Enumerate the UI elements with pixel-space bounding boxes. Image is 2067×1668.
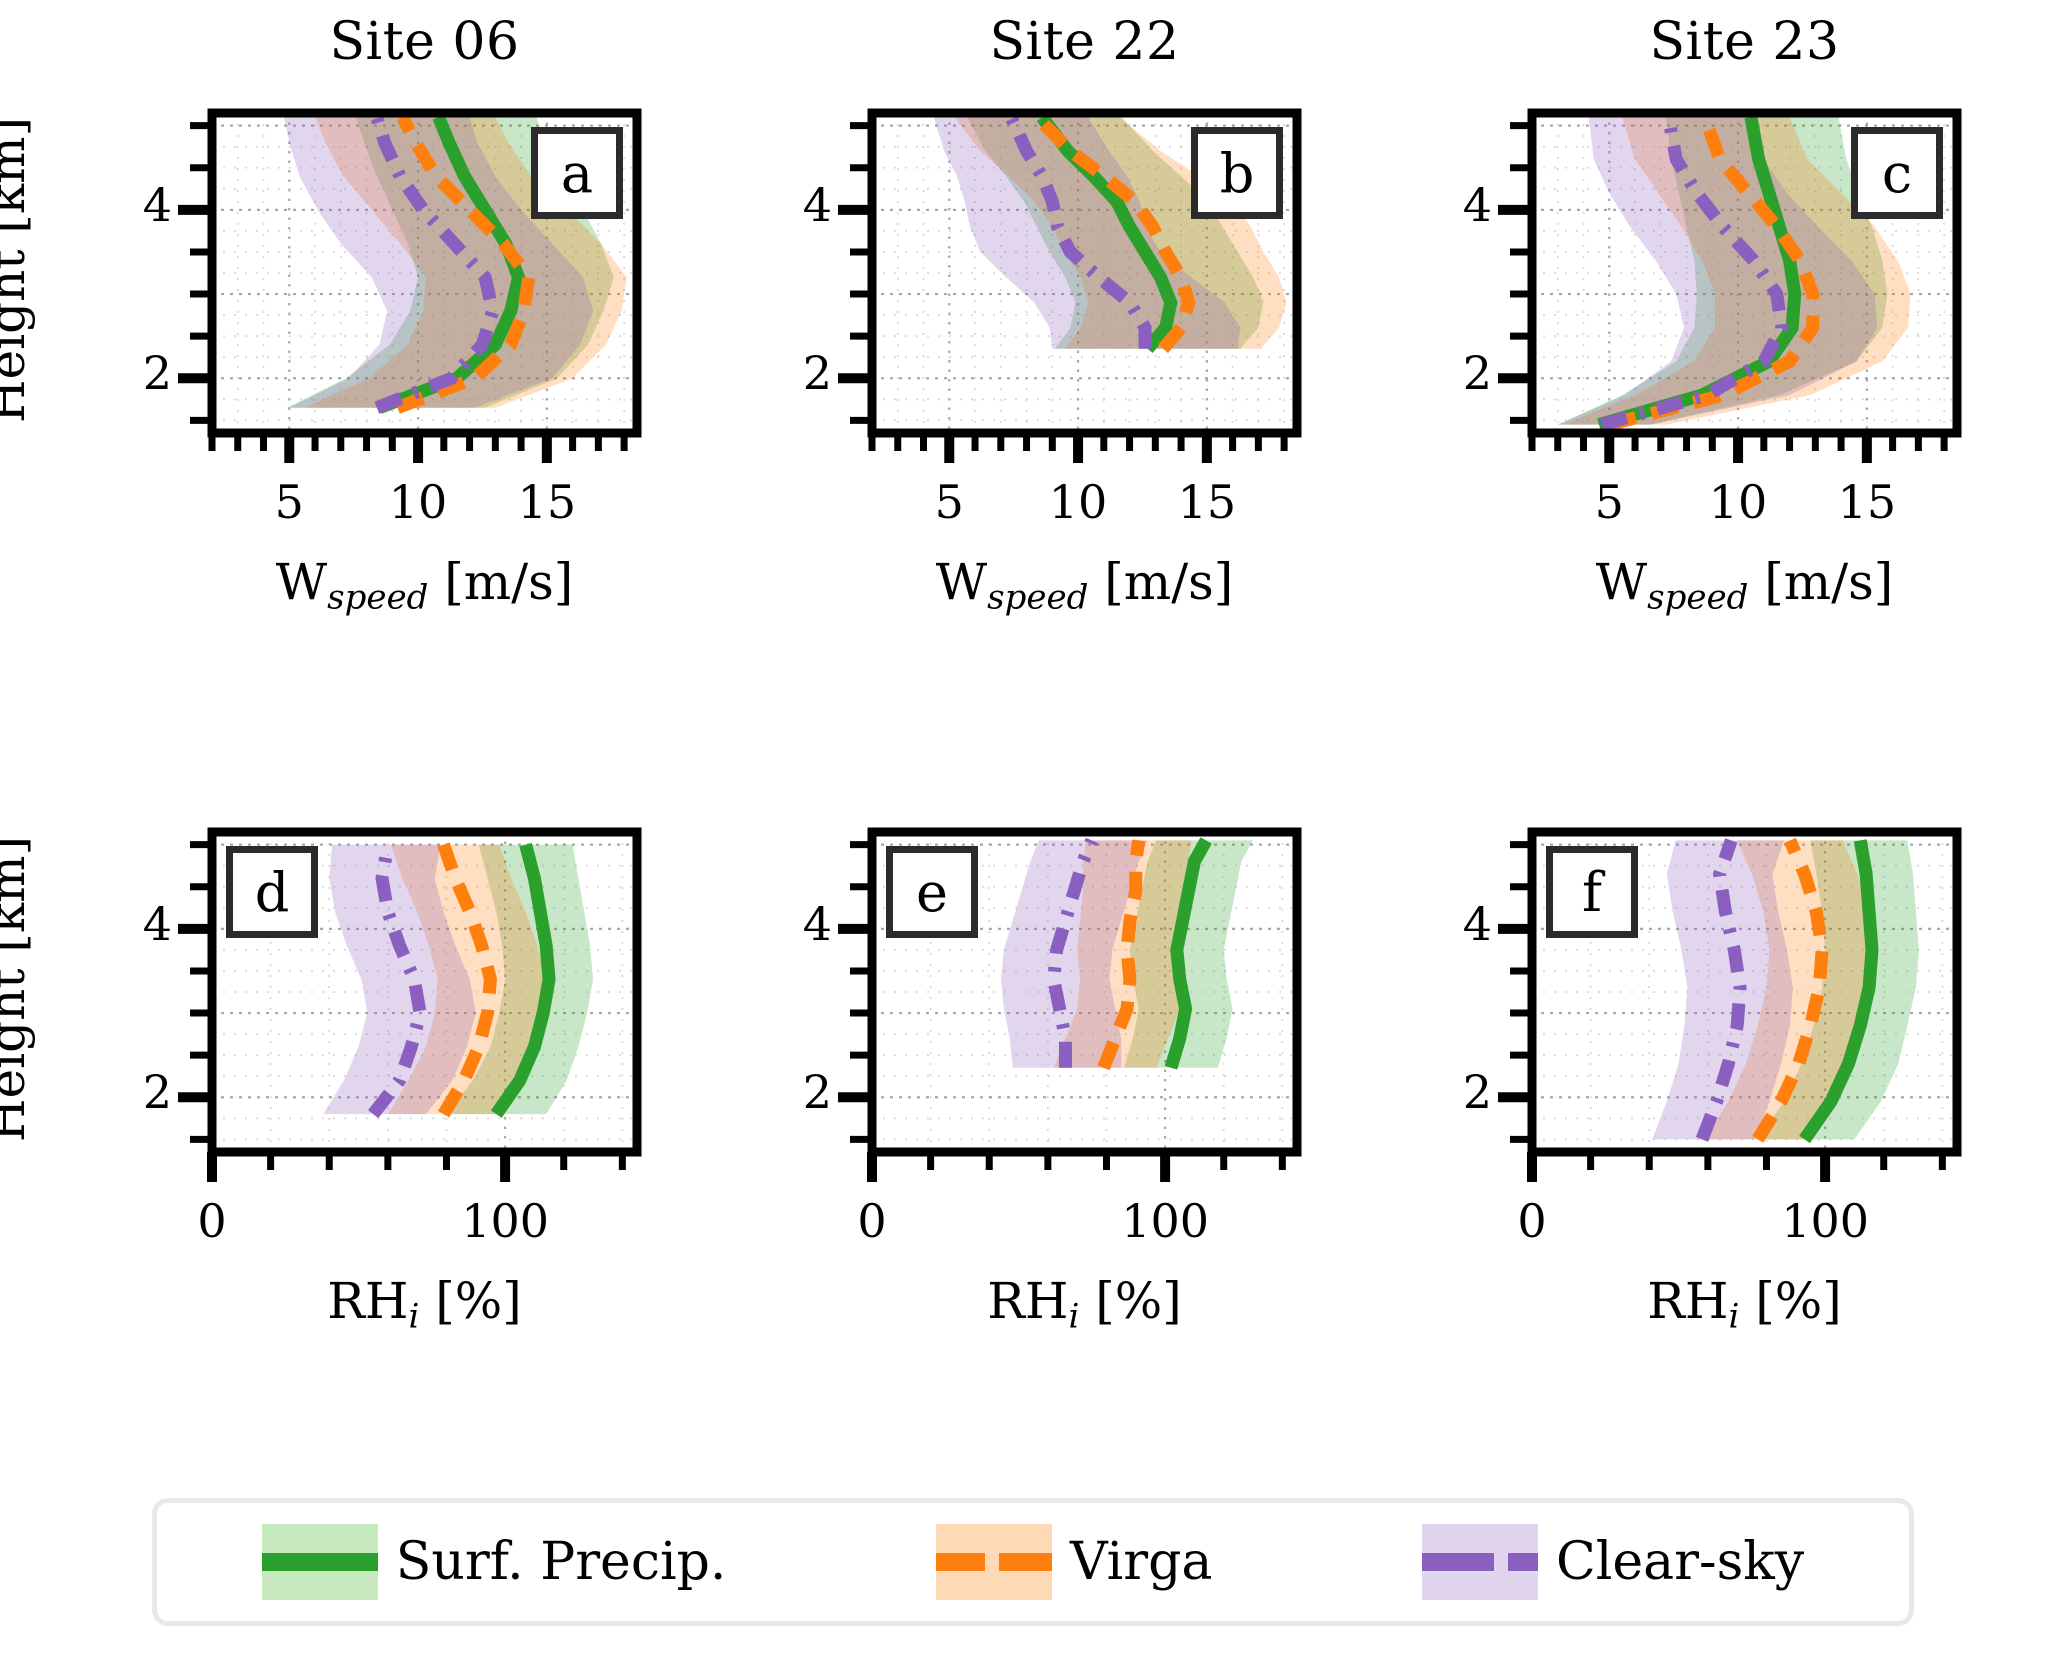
band-e-1 (1054, 840, 1192, 1067)
xaxis-label-main: RH (987, 1272, 1068, 1330)
xaxis-label-unit: [m/s] (1748, 553, 1893, 611)
ytick-label: 4 (742, 178, 832, 232)
xaxis-label-main: W (276, 553, 327, 611)
legend-line-2 (1422, 1553, 1538, 1571)
chart-panel-b (0, 0, 2067, 1668)
band-e-2 (1001, 840, 1148, 1067)
ytick-label: 4 (742, 897, 832, 951)
xaxis-label-unit: [m/s] (428, 553, 573, 611)
band-c-2 (1558, 117, 1877, 424)
ytick-label: 4 (82, 178, 172, 232)
xtick-label: 5 (1549, 475, 1669, 529)
panel-title-0: Site 06 (152, 12, 697, 72)
series-line-d-0 (496, 845, 549, 1114)
chart-svg-e (0, 0, 2067, 1668)
chart-svg-d (0, 0, 2067, 1668)
xtick-label: 0 (812, 1194, 932, 1248)
legend-label-2: Clear-sky (1556, 1532, 1804, 1592)
xaxis-label-sub: speed (1647, 578, 1748, 618)
series-line-f-1 (1758, 840, 1822, 1139)
xaxis-label-main: RH (1647, 1272, 1728, 1330)
xaxis-label-main: RH (327, 1272, 408, 1330)
series-line-c-1 (1609, 117, 1812, 424)
ytick-label: 2 (742, 1065, 832, 1119)
series-line-e-0 (1171, 840, 1206, 1067)
series-line-f-2 (1702, 840, 1740, 1139)
chart-svg-c (0, 0, 2067, 1668)
band-d-1 (388, 845, 546, 1114)
panel-title-2: Site 23 (1472, 12, 2017, 72)
xtick-label: 100 (445, 1194, 565, 1248)
xtick-label: 5 (229, 475, 349, 529)
panel-letter-c: c (1851, 127, 1943, 219)
yaxis-label-d: Height [km] (0, 774, 36, 1204)
legend-label-1: Virga (1070, 1532, 1212, 1592)
xaxis-label-sub: i (1068, 1297, 1079, 1337)
xtick-label: 15 (487, 475, 607, 529)
chart-svg-b (0, 0, 2067, 1668)
xaxis-label-sub: speed (327, 578, 428, 618)
ytick-label: 4 (1402, 178, 1492, 232)
chart-svg-f (0, 0, 2067, 1668)
legend-entry-1[interactable]: Virga (936, 1524, 1212, 1600)
legend-swatch-2 (1422, 1524, 1538, 1600)
band-f-0 (1758, 840, 1919, 1139)
series-line-a-0 (379, 117, 518, 408)
xaxis-label-d: RHi [%] (122, 1272, 727, 1337)
xtick-label: 100 (1765, 1194, 1885, 1248)
xaxis-label-sub: i (408, 1297, 419, 1337)
chart-panel-a (0, 0, 2067, 1668)
legend-label-0: Surf. Precip. (396, 1532, 727, 1592)
panel-letter-a: a (531, 127, 623, 219)
xaxis-label-sub: i (1728, 1297, 1739, 1337)
legend-entry-0[interactable]: Surf. Precip. (262, 1524, 727, 1600)
xaxis-label-unit: [%] (1079, 1272, 1181, 1330)
chart-panel-c (0, 0, 2067, 1668)
series-line-b-2 (1011, 117, 1145, 349)
legend-swatch-0 (262, 1524, 378, 1600)
ytick-label: 2 (1402, 346, 1492, 400)
ytick-label: 2 (742, 346, 832, 400)
chart-panel-f (0, 0, 2067, 1668)
panel-letter-d: d (226, 846, 318, 938)
panel-title-1: Site 22 (812, 12, 1357, 72)
series-line-b-0 (1042, 117, 1171, 349)
xaxis-label-unit: [%] (419, 1272, 521, 1330)
legend-line-0 (262, 1553, 378, 1571)
xaxis-label-f: RHi [%] (1442, 1272, 2047, 1337)
series-line-f-0 (1805, 840, 1872, 1139)
series-line-e-2 (1054, 840, 1092, 1067)
series-line-c-2 (1602, 117, 1782, 424)
series-line-d-1 (444, 845, 491, 1114)
xtick-label: 5 (889, 475, 1009, 529)
ytick-label: 2 (1402, 1065, 1492, 1119)
xtick-label: 15 (1147, 475, 1267, 529)
xaxis-label-e: RHi [%] (782, 1272, 1387, 1337)
yaxis-label-a: Height [km] (0, 55, 36, 485)
legend-line-1 (936, 1553, 1052, 1571)
series-line-d-2 (373, 845, 420, 1114)
chart-svg-a (0, 0, 2067, 1668)
chart-panel-e (0, 0, 2067, 1668)
panel-letter-f: f (1546, 846, 1638, 938)
series-line-c-0 (1599, 117, 1795, 424)
band-c-0 (1558, 117, 1888, 424)
legend-entry-2[interactable]: Clear-sky (1422, 1524, 1804, 1600)
series-line-b-1 (1037, 117, 1189, 349)
panel-letter-b: b (1191, 127, 1283, 219)
legend-line-segment (999, 1553, 1052, 1571)
series-line-a-2 (377, 117, 493, 408)
xtick-label: 10 (358, 475, 478, 529)
xaxis-label-unit: [%] (1739, 1272, 1841, 1330)
xtick-label: 10 (1678, 475, 1798, 529)
xaxis-label-unit: [m/s] (1088, 553, 1233, 611)
xaxis-label-c: Wspeed [m/s] (1442, 553, 2047, 618)
ytick-label: 2 (82, 1065, 172, 1119)
chart-legend: Surf. Precip.VirgaClear-sky (152, 1498, 1914, 1626)
band-e-0 (1124, 840, 1253, 1067)
legend-swatch-1 (936, 1524, 1052, 1600)
xaxis-label-sub: speed (987, 578, 1088, 618)
xtick-label: 0 (152, 1194, 272, 1248)
band-d-2 (323, 845, 475, 1114)
series-line-a-1 (397, 117, 528, 408)
legend-line-segment (1508, 1553, 1538, 1571)
panel-letter-e: e (886, 846, 978, 938)
figure-root: 5101524aSite 06Wspeed [m/s]Height [km]51… (0, 0, 2067, 1668)
chart-panel-d (0, 0, 2067, 1668)
xtick-label: 100 (1105, 1194, 1225, 1248)
xaxis-label-a: Wspeed [m/s] (122, 553, 727, 618)
legend-line-segment (262, 1553, 378, 1571)
ytick-label: 2 (82, 346, 172, 400)
ytick-label: 4 (1402, 897, 1492, 951)
xtick-label: 15 (1807, 475, 1927, 529)
xtick-label: 10 (1018, 475, 1138, 529)
xaxis-label-main: W (1596, 553, 1647, 611)
xaxis-label-main: W (936, 553, 987, 611)
band-f-2 (1652, 840, 1793, 1139)
ytick-label: 4 (82, 897, 172, 951)
band-d-0 (446, 845, 593, 1114)
band-f-1 (1705, 840, 1875, 1139)
series-line-e-1 (1104, 840, 1139, 1067)
legend-line-segment (936, 1553, 985, 1571)
xtick-label: 0 (1472, 1194, 1592, 1248)
xaxis-label-b: Wspeed [m/s] (782, 553, 1387, 618)
legend-line-segment (1422, 1553, 1494, 1571)
